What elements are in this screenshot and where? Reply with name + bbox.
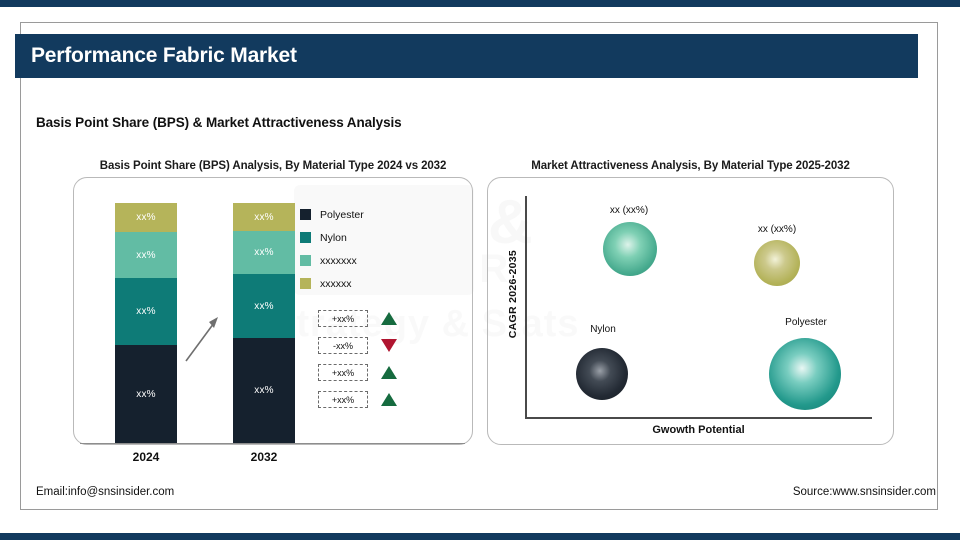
delta-row: -xx%	[318, 337, 397, 354]
legend-label: Polyester	[320, 209, 364, 221]
bar-segment-label: xx%	[254, 247, 274, 258]
footer-email: Email:info@snsinsider.com	[36, 486, 174, 498]
bar-segment-label: xx%	[254, 212, 274, 223]
bps-delta-list: +xx% -xx% +xx% +xx%	[318, 310, 397, 418]
legend-item-polyester: Polyester	[300, 203, 364, 226]
delta-row: +xx%	[318, 364, 397, 381]
attractiveness-y-axis	[525, 196, 527, 418]
bubble-teal-small	[603, 222, 657, 276]
bar-stack-2024: xx% xx% xx% xx%	[115, 203, 177, 443]
legend-swatch-icon	[300, 232, 311, 243]
bar-segment-2024-xxxxxxx: xx%	[115, 232, 177, 278]
bubble-caption-polyester: Polyester	[770, 317, 842, 328]
delta-row: +xx%	[318, 391, 397, 408]
title-band: Performance Fabric Market	[15, 34, 918, 78]
bar-segment-label: xx%	[136, 389, 156, 400]
delta-row: +xx%	[318, 310, 397, 327]
legend-item-xxxxxxx: xxxxxxx	[300, 249, 364, 272]
bar-segment-2024-nylon: xx%	[115, 278, 177, 345]
bubble-polyester	[769, 338, 841, 410]
attractiveness-chart-panel	[487, 177, 894, 445]
attractiveness-chart-title: Market Attractiveness Analysis, By Mater…	[487, 160, 894, 172]
legend-label: Nylon	[320, 232, 347, 244]
bar-segment-label: xx%	[136, 250, 156, 261]
legend-item-nylon: Nylon	[300, 226, 364, 249]
page-subtitle: Basis Point Share (BPS) & Market Attract…	[36, 115, 402, 130]
bar-segment-label: xx%	[254, 385, 274, 396]
legend-item-xxxxxx: xxxxxx	[300, 272, 364, 295]
attractiveness-x-axis-label: Gwowth Potential	[525, 424, 872, 436]
bar-segment-2024-xxxxxx: xx%	[115, 203, 177, 232]
bar-segment-2032-polyester: xx%	[233, 338, 295, 443]
delta-value: +xx%	[318, 391, 368, 408]
bar-category-label-2024: 2024	[115, 450, 177, 464]
bar-segment-2032-nylon: xx%	[233, 274, 295, 338]
footer-source: Source:www.snsinsider.com	[793, 486, 936, 498]
triangle-up-icon	[381, 312, 397, 325]
bubble-caption-nylon: Nylon	[570, 324, 636, 335]
bar-category-label-2032: 2032	[233, 450, 295, 464]
bps-chart-title: Basis Point Share (BPS) Analysis, By Mat…	[73, 160, 473, 172]
bar-segment-label: xx%	[136, 306, 156, 317]
bottom-accent-bar	[0, 533, 960, 540]
delta-value: -xx%	[318, 337, 368, 354]
bubble-olive	[754, 240, 800, 286]
bar-segment-2032-xxxxxx: xx%	[233, 203, 295, 231]
diagonal-up-arrow-icon	[182, 315, 224, 365]
bar-segment-label: xx%	[136, 212, 156, 223]
legend-label: xxxxxx	[320, 278, 352, 290]
delta-value: +xx%	[318, 364, 368, 381]
bar-segment-2024-polyester: xx%	[115, 345, 177, 443]
bubble-caption-teal: xx (xx%)	[575, 205, 683, 216]
attractiveness-x-axis	[525, 417, 872, 419]
bps-baseline	[80, 443, 465, 444]
legend-swatch-icon	[300, 209, 311, 220]
triangle-down-icon	[381, 339, 397, 352]
legend-label: xxxxxxx	[320, 255, 357, 267]
bar-stack-2032: xx% xx% xx% xx%	[233, 203, 295, 443]
bar-segment-2032-xxxxxxx: xx%	[233, 231, 295, 274]
bar-segment-label: xx%	[254, 301, 274, 312]
legend-swatch-icon	[300, 255, 311, 266]
triangle-up-icon	[381, 393, 397, 406]
bps-legend: Polyester Nylon xxxxxxx xxxxxx	[300, 203, 364, 295]
page-title: Performance Fabric Market	[15, 44, 297, 68]
bubble-caption-olive: xx (xx%)	[723, 224, 831, 235]
delta-value: +xx%	[318, 310, 368, 327]
legend-swatch-icon	[300, 278, 311, 289]
triangle-up-icon	[381, 366, 397, 379]
attractiveness-y-axis-label: CAGR 2026-2035	[507, 250, 519, 338]
slide-root: Performance Fabric Market Basis Point Sh…	[0, 0, 960, 540]
top-accent-bar	[0, 0, 960, 7]
bubble-nylon	[576, 348, 628, 400]
